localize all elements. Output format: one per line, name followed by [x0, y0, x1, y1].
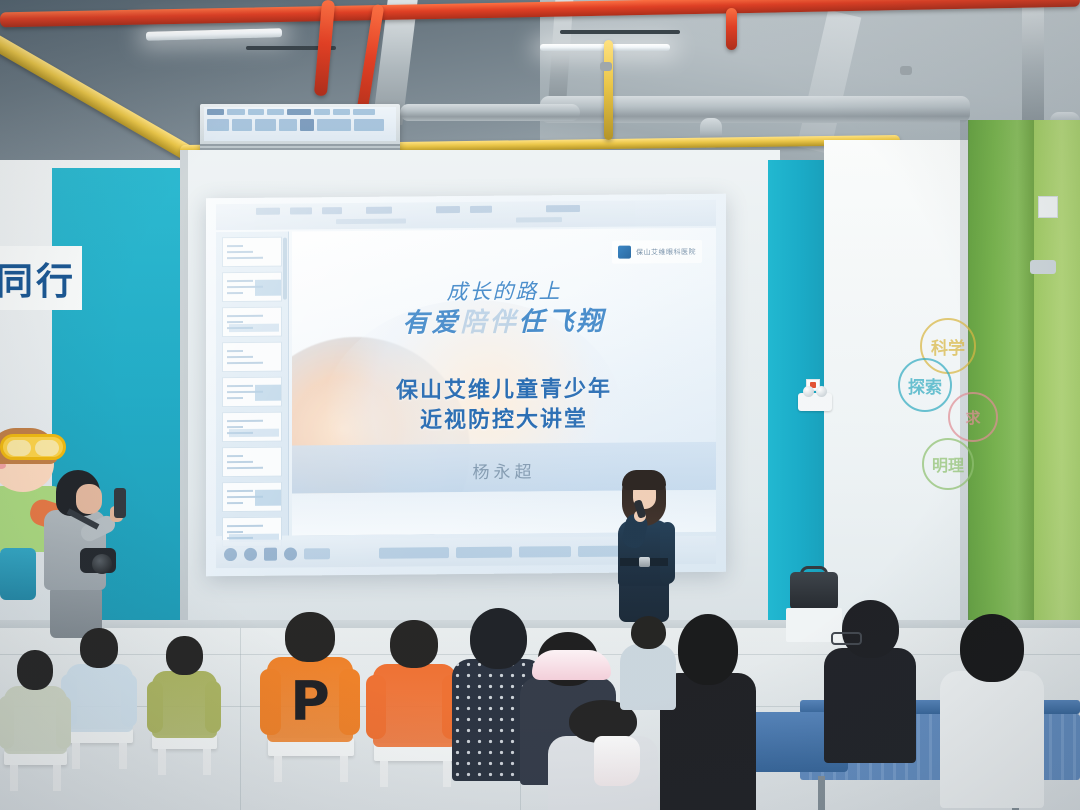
record-icon[interactable] [284, 547, 297, 560]
sprinkler-head-1 [600, 62, 612, 71]
pen-icon[interactable] [264, 547, 277, 560]
kid-pale-arm-right [56, 696, 71, 749]
woman-white-head [960, 614, 1024, 682]
slide-thumbnail-pane[interactable] [216, 232, 289, 537]
woman-white [940, 614, 1044, 804]
slide-thumbnail[interactable] [222, 447, 282, 478]
sprinkler-pipe-drop-3 [726, 8, 737, 50]
status-chip-3[interactable] [456, 546, 512, 557]
bench-leg-1 [818, 776, 825, 810]
presenter-belt-buckle [639, 557, 650, 567]
smartphone-icon [114, 488, 126, 518]
face-mask-icon [594, 736, 640, 786]
kid-olive-arm-right [205, 681, 221, 733]
adult-longhair-head [678, 614, 738, 685]
slide-thumbnail[interactable] [222, 237, 282, 268]
kid-back [620, 616, 676, 708]
wall-socket[interactable] [1038, 196, 1058, 218]
wall-decal-4: 明理 [922, 438, 974, 490]
presenter-arm-right [660, 522, 675, 584]
slide-thumbnail[interactable] [222, 482, 282, 513]
kid-orange [368, 620, 460, 766]
emergency-light [798, 393, 832, 411]
kid-pale-head [17, 650, 53, 690]
boy-glasses-head [842, 600, 899, 658]
boy-glasses [824, 600, 916, 760]
eye-clinic-logo-icon [618, 246, 631, 259]
kid-pale-arm-left [0, 696, 14, 749]
slide-thumbnail-list [216, 237, 288, 548]
glasses-icon [831, 632, 862, 645]
slide-handwritten-2c: 任飞翔 [519, 307, 606, 338]
slide-title-line1: 保山艾维儿童青少年 [292, 374, 716, 407]
sprinkler-head-2 [900, 66, 912, 75]
slide-title-line2: 近视防控大讲堂 [292, 404, 716, 437]
slide-handwritten-2b: 陪伴 [460, 308, 518, 339]
slide-thumbnail[interactable] [222, 272, 282, 303]
slide-title: 保山艾维儿童青少年 近视防控大讲堂 [292, 374, 716, 437]
slide-logo: 保山艾维眼科医院 [612, 240, 702, 264]
powerpoint-ribbon[interactable] [216, 200, 716, 230]
adult-polkadot-head [470, 608, 527, 669]
thumbnail-scrollbar[interactable] [283, 238, 287, 300]
status-chip-1[interactable] [304, 548, 330, 559]
photographer-face [76, 484, 102, 514]
kid-lightblue-arm-right [121, 674, 137, 727]
slide-handwritten-line2: 有爱陪伴任飞翔 [292, 300, 716, 341]
status-chip-2[interactable] [379, 547, 449, 559]
slide-thumbnail[interactable] [222, 377, 282, 408]
kid-back-head [631, 616, 666, 649]
kid-olive-arm-left [147, 681, 163, 733]
kid-olive-head [166, 636, 203, 675]
boy-glasses-torso [824, 648, 916, 763]
play-icon[interactable] [224, 547, 237, 560]
kid-orange-arm-left [366, 675, 386, 739]
projected-ribbon-overlay [204, 107, 396, 141]
kid-olive [148, 636, 220, 754]
status-chip-4[interactable] [519, 546, 571, 557]
slide-logo-text: 保山艾维眼科医院 [636, 246, 696, 257]
adult-masked [548, 700, 658, 810]
pink-visor-icon [532, 650, 611, 680]
wall-decal-2: 探索 [898, 358, 952, 412]
shirt-letter: P [262, 675, 358, 729]
gas-pipe-vertical [604, 40, 613, 140]
woman-white-torso [940, 671, 1044, 808]
projected-ribbon-row-1 [204, 107, 396, 117]
blue-chair-left[interactable] [0, 548, 36, 600]
wall-sign-left: 同行 [0, 246, 82, 310]
ceiling-conduit-2 [560, 30, 680, 34]
presenter-person [608, 470, 684, 630]
ceiling-beam-3 [1022, 0, 1044, 120]
mascot-goggles-icon [0, 434, 66, 460]
kid-lightblue [62, 628, 136, 748]
wall-camera-icon [1030, 260, 1056, 274]
slide-thumbnail[interactable] [222, 342, 282, 373]
wall-sign-left-text: 同行 [0, 251, 76, 305]
projected-ribbon-row-2 [204, 117, 396, 133]
wall-corner-shadow-left [180, 150, 188, 650]
kid-orange-head [390, 620, 438, 668]
kid-pale [0, 650, 70, 770]
kid-orange-p: P [262, 612, 358, 762]
duct-left [400, 104, 580, 121]
slide-thumbnail[interactable] [222, 412, 282, 443]
camera-lens-icon [92, 554, 112, 574]
help-icon[interactable] [244, 547, 257, 560]
kid-lightblue-head [80, 628, 118, 668]
kid-back-torso [620, 644, 676, 710]
kid-orange-p-head [285, 612, 335, 662]
slide-thumbnail[interactable] [222, 307, 282, 338]
photographer-person [36, 470, 128, 635]
wall-decal-3: 求 [948, 392, 998, 442]
slide-handwritten-2a: 有爱 [402, 308, 460, 339]
presenter-fringe [622, 470, 666, 490]
presentation-hall-photo: 同行 科学探索求明理 [0, 0, 1080, 810]
